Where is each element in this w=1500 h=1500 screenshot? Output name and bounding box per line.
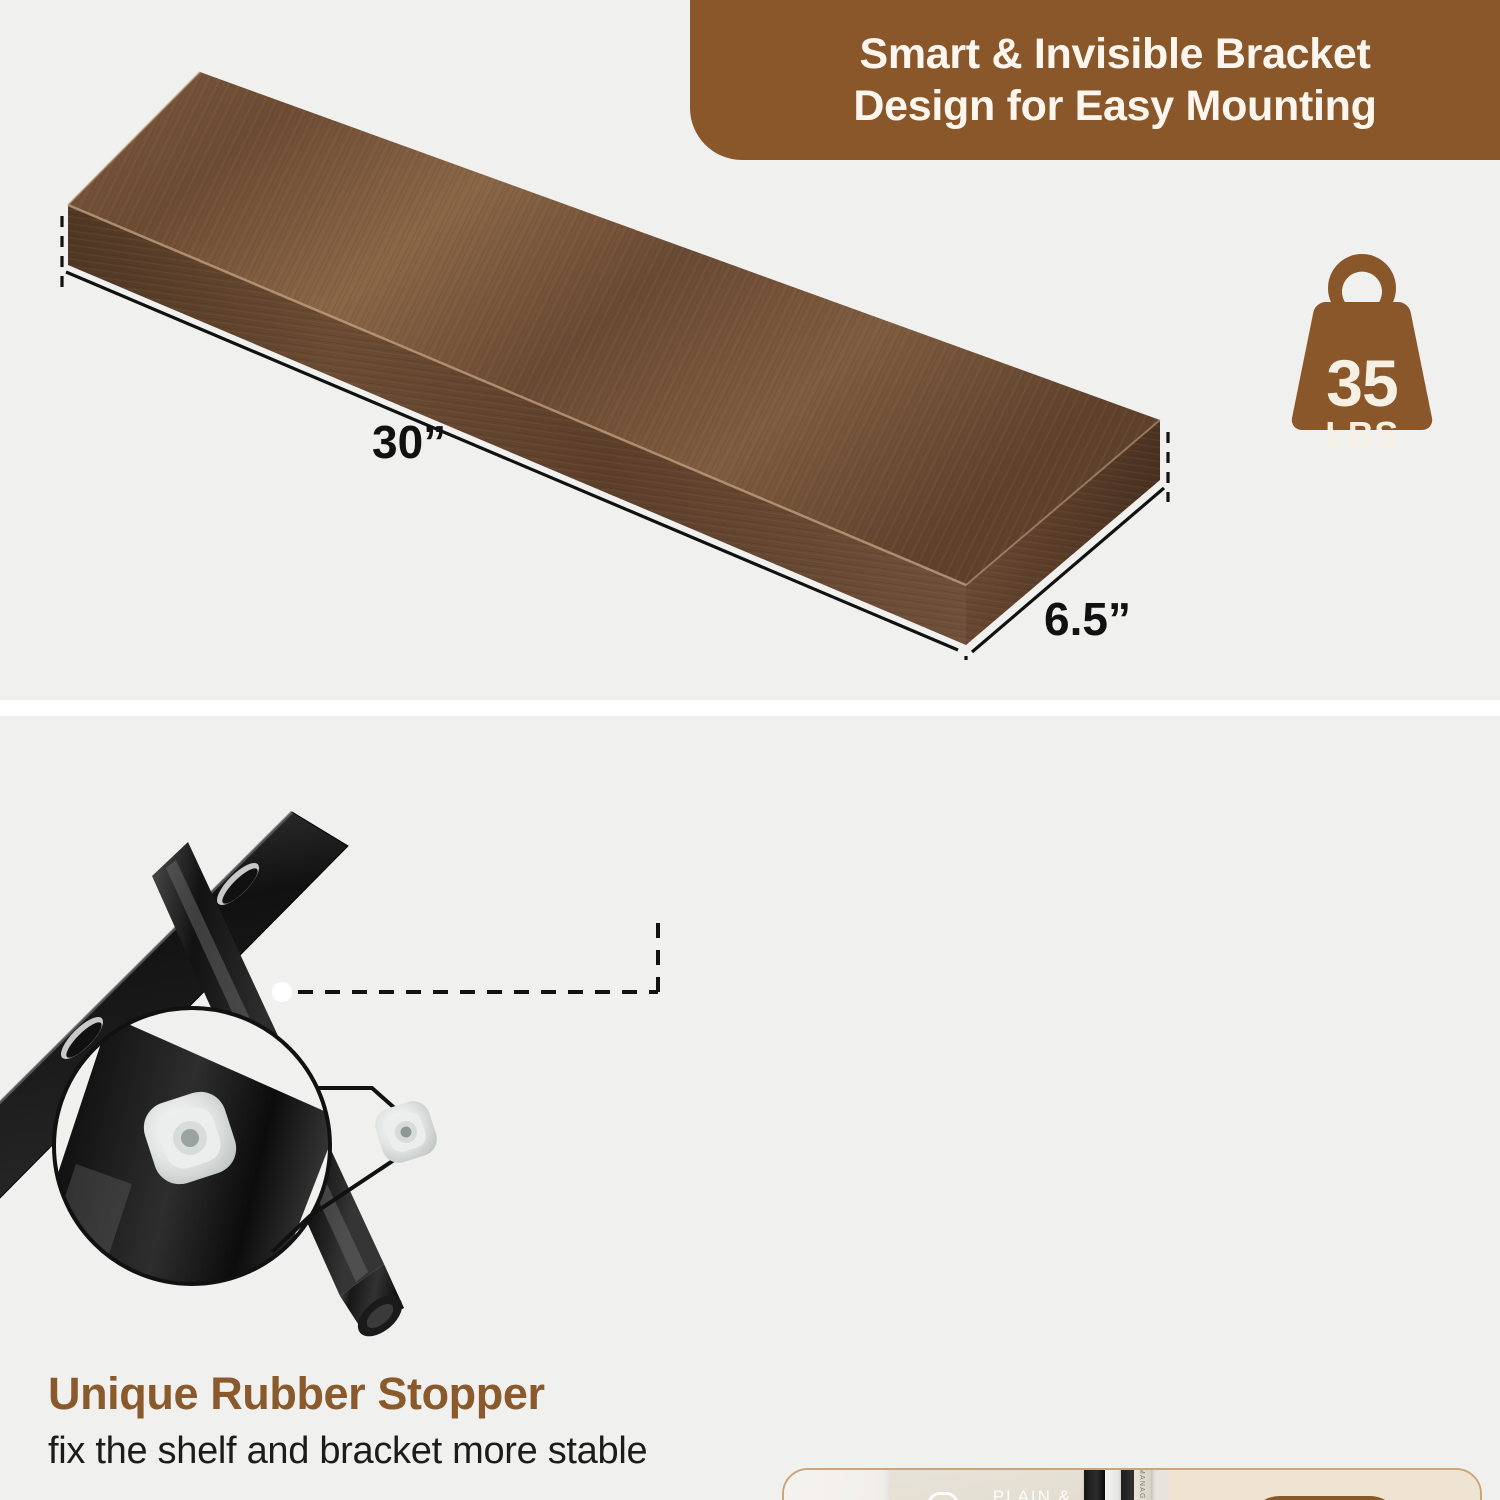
weight-capacity-badge: 35 LBS bbox=[1282, 248, 1442, 438]
material-leader-line bbox=[298, 914, 658, 992]
length-dimension-label: 30” bbox=[372, 415, 446, 469]
ours-text-panel: Ours DEEPER & THICKER Create more storag… bbox=[1169, 1470, 1480, 1500]
header-title-line1: Smart & Invisible Bracket bbox=[859, 28, 1370, 80]
product-dimensions-section: 30” 6.5” 35 LBS Smart & Invisible Bracke… bbox=[0, 0, 1500, 700]
depth-dimension-label: 6.5” bbox=[1044, 592, 1131, 646]
ours-photo: PLAIN & SIMPLE KIM BRENNEMAN NO REST FOR… bbox=[784, 1470, 1169, 1500]
header-title-line2: Design for Easy Mounting bbox=[853, 80, 1376, 132]
infographic-page: 30” 6.5” 35 LBS Smart & Invisible Bracke… bbox=[0, 0, 1500, 1500]
rubber-stopper-subtitle: fix the shelf and bracket more stable bbox=[48, 1430, 647, 1473]
comparison-card-ours: PLAIN & SIMPLE KIM BRENNEMAN NO REST FOR… bbox=[782, 1468, 1482, 1500]
weight-value: 35 bbox=[1282, 345, 1442, 421]
rubber-stopper-title: Unique Rubber Stopper bbox=[48, 1368, 545, 1420]
weight-unit: LBS bbox=[1282, 414, 1442, 456]
rubber-stopper-actual bbox=[371, 1097, 442, 1168]
ours-badge: Ours bbox=[1247, 1496, 1403, 1500]
leader-origin-dot bbox=[272, 982, 292, 1002]
header-banner: Smart & Invisible Bracket Design for Eas… bbox=[690, 0, 1500, 160]
bracket-svg bbox=[0, 716, 740, 1356]
bracket-illustration bbox=[0, 716, 680, 1336]
